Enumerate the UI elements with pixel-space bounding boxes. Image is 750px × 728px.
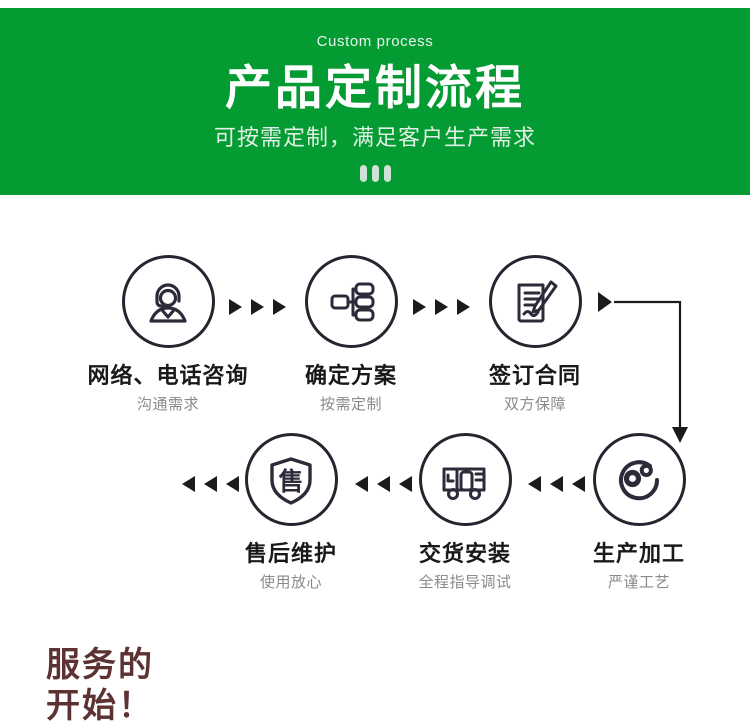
flowchart-plan-icon [323, 274, 379, 330]
after-sales-shield-icon: 售 [263, 452, 319, 508]
arrow-right-icon [413, 299, 426, 315]
page-banner: Custom process 产品定制流程 可按需定制，满足客户生产需求 [0, 8, 750, 195]
step-2-icon-circle [305, 255, 398, 348]
svg-text:售: 售 [278, 467, 303, 496]
arrow-left-icon [226, 476, 239, 492]
elbow-arrow-right-down-icon [596, 287, 692, 447]
step-6-label: 售后维护 [201, 526, 381, 566]
connector-6-end [182, 476, 239, 492]
step-3-icon-circle [489, 255, 582, 348]
step-5-label: 交货安装 [375, 526, 555, 566]
arrow-right-icon [229, 299, 242, 315]
step-5-desc: 全程指导调试 [375, 566, 555, 592]
step-4-icon-circle [593, 433, 686, 526]
banner-dots-decoration [0, 151, 750, 182]
customer-service-person-icon [140, 274, 196, 330]
flow-step-delivery[interactable]: 交货安装 全程指导调试 [375, 433, 555, 592]
step-1-label: 网络、电话咨询 [78, 348, 258, 388]
arrow-left-icon [182, 476, 195, 492]
service-start-line-1: 服务的 [46, 645, 226, 686]
dot-2-icon [372, 165, 379, 182]
banner-eyebrow: Custom process [0, 8, 750, 49]
flow-step-consultation[interactable]: 网络、电话咨询 沟通需求 [78, 255, 258, 414]
delivery-truck-icon [436, 451, 494, 509]
step-6-desc: 使用放心 [201, 566, 381, 592]
contract-signing-pen-icon [507, 274, 563, 330]
step-6-icon-circle: 售 [245, 433, 338, 526]
dot-3-icon [384, 165, 391, 182]
step-1-desc: 沟通需求 [78, 388, 258, 414]
step-1-icon-circle [122, 255, 215, 348]
service-start-line-2: 开始！ [46, 686, 226, 727]
gears-production-icon [610, 451, 668, 509]
service-start-callout: 服务的 开始！ [46, 645, 226, 728]
process-flow-diagram: 网络、电话咨询 沟通需求 确定方案 按需定制 [0, 195, 750, 634]
arrow-left-icon [204, 476, 217, 492]
step-2-label: 确定方案 [261, 348, 441, 388]
arrow-left-icon [399, 476, 412, 492]
step-4-desc: 严谨工艺 [549, 566, 729, 592]
banner-subtitle: 可按需定制，满足客户生产需求 [0, 115, 750, 151]
connector-3-4-elbow [596, 287, 692, 452]
step-5-icon-circle [419, 433, 512, 526]
step-4-label: 生产加工 [549, 526, 729, 566]
flow-step-plan[interactable]: 确定方案 按需定制 [261, 255, 441, 414]
flow-step-production[interactable]: 生产加工 严谨工艺 [549, 433, 729, 592]
arrow-left-icon [572, 476, 585, 492]
page-title: 产品定制流程 [0, 49, 750, 115]
flow-step-after-sales[interactable]: 售 售后维护 使用放心 [201, 433, 381, 592]
step-2-desc: 按需定制 [261, 388, 441, 414]
dot-1-icon [360, 165, 367, 182]
